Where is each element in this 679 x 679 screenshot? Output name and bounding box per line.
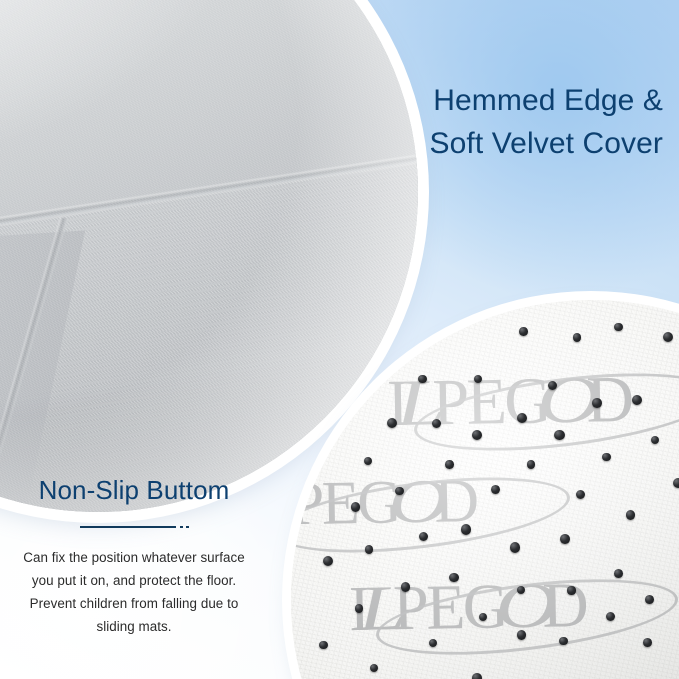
non-slip-dot	[472, 673, 482, 679]
feature-body-line: sliding mats.	[0, 615, 268, 638]
non-slip-dot	[445, 460, 453, 468]
product-feature-graphic: ILPEGOD ILPEGOD ILPEGOD Hemmed Edge & So…	[0, 0, 679, 679]
non-slip-dot	[602, 453, 611, 462]
mat-shading	[291, 300, 679, 679]
non-slip-dot	[419, 532, 428, 541]
non-slip-dot	[554, 430, 564, 440]
headline: Hemmed Edge & Soft Velvet Cover	[430, 80, 663, 165]
non-slip-dot	[319, 641, 328, 650]
non-slip-dot	[395, 487, 403, 495]
non-slip-dot	[364, 457, 372, 465]
non-slip-dot	[479, 613, 487, 621]
feature-body-line: you put it on, and protect the floor.	[0, 569, 268, 592]
feature-block: Non-Slip Buttom Can fix the position wha…	[0, 475, 268, 638]
non-slip-dot	[472, 430, 482, 440]
feature-body-line: Can fix the position whatever surface	[0, 546, 268, 569]
non-slip-dot	[517, 413, 527, 423]
non-slip-dot	[517, 630, 526, 639]
divider-dot	[186, 526, 189, 528]
headline-line-2: Soft Velvet Cover	[430, 123, 663, 166]
non-slip-dot	[592, 398, 602, 408]
non-slip-mat-photo: ILPEGOD ILPEGOD ILPEGOD	[291, 300, 679, 679]
non-slip-dot	[527, 460, 536, 469]
non-slip-dot	[560, 534, 570, 544]
non-slip-dot	[387, 418, 397, 428]
non-slip-dot	[626, 510, 635, 519]
non-slip-dot	[323, 556, 333, 566]
non-slip-dot	[643, 638, 652, 647]
non-slip-dot	[517, 586, 525, 594]
feature-body-line: Prevent children from falling due to	[0, 592, 268, 615]
non-slip-dot	[651, 436, 659, 444]
non-slip-dot	[418, 375, 427, 384]
non-slip-dot	[645, 595, 654, 604]
divider-dot	[180, 526, 183, 528]
non-slip-dot	[491, 485, 500, 494]
non-slip-dot	[519, 327, 527, 335]
feature-divider	[0, 520, 268, 534]
non-slip-dot	[567, 586, 575, 594]
divider-line	[80, 526, 176, 528]
non-slip-dot	[449, 573, 458, 582]
non-slip-dot	[461, 524, 471, 534]
feature-title: Non-Slip Buttom	[0, 475, 268, 506]
non-slip-dot	[365, 545, 373, 553]
non-slip-dot	[370, 664, 378, 672]
headline-line-1: Hemmed Edge &	[430, 80, 663, 123]
feature-body: Can fix the position whatever surface yo…	[0, 546, 268, 638]
non-slip-dot	[355, 604, 363, 612]
